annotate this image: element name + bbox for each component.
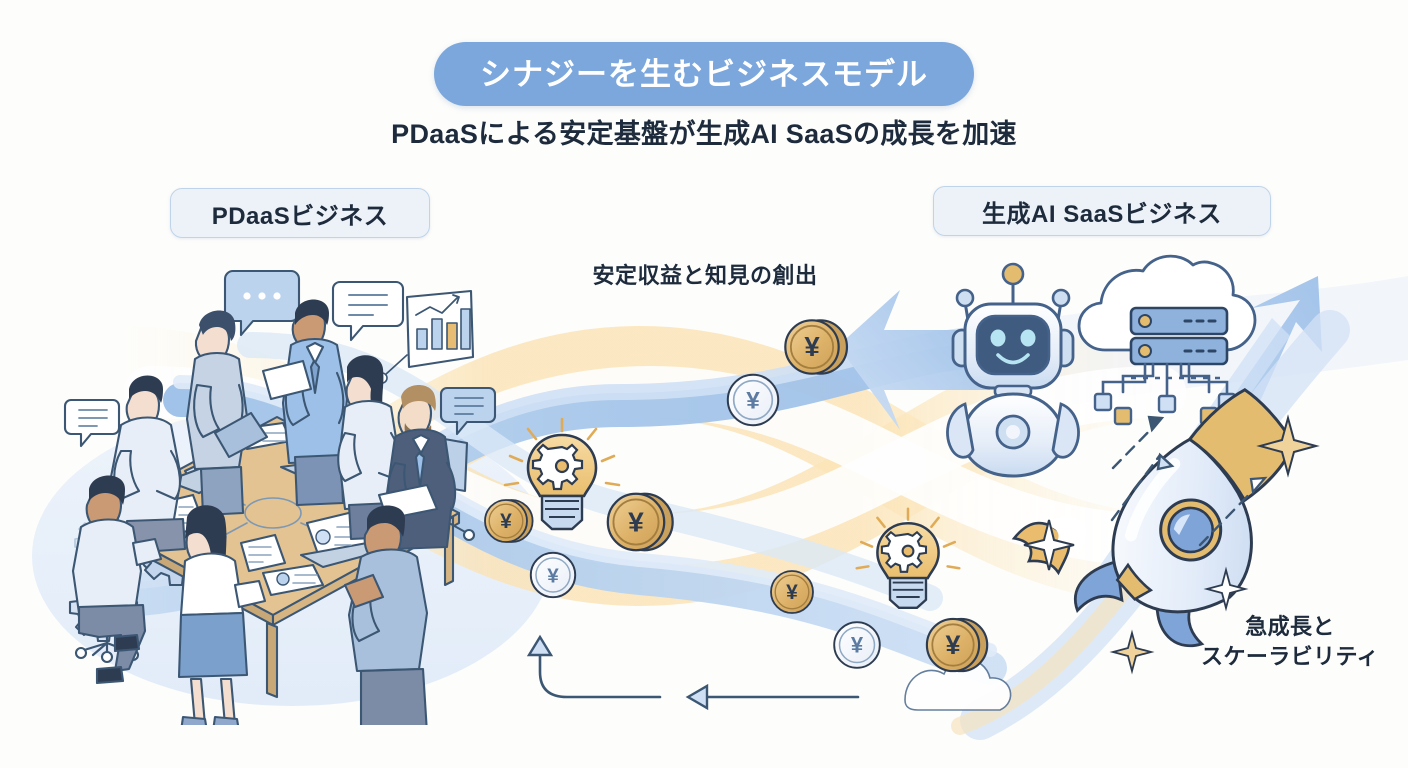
big-right-arrow-icon [838, 290, 990, 430]
svg-text:¥: ¥ [547, 564, 559, 587]
yen-coin-icon: ¥ [785, 320, 847, 373]
svg-text:¥: ¥ [628, 505, 644, 537]
yen-coin-icon: ¥ [771, 571, 813, 613]
svg-text:¥: ¥ [804, 331, 820, 362]
yen-coin-icon: ¥ [927, 619, 987, 671]
svg-text:¥: ¥ [786, 581, 798, 604]
yen-coin-icon: ¥ [834, 622, 880, 668]
business-meeting-scene [55, 255, 525, 725]
section-badge-pdaas-label: PDaaSビジネス [212, 196, 389, 231]
page-title-pill: シナジーを生むビジネスモデル [434, 42, 974, 106]
page-title: シナジーを生むビジネスモデル [480, 59, 928, 90]
big-growth-arrow-icon [1090, 276, 1322, 600]
speech-bubble-icon [225, 271, 299, 335]
section-badge-saas: 生成AI SaaSビジネス [933, 186, 1271, 236]
section-badge-pdaas: PDaaSビジネス [170, 188, 430, 238]
yen-coin-icon: ¥ [608, 494, 673, 550]
flow-label: 安定収益と知見の創出 [560, 258, 850, 290]
growth-label: 急成長と スケーラビリティ [1180, 612, 1400, 671]
yen-coin-icon: ¥ [531, 553, 575, 597]
speech-bubble-icon [65, 400, 119, 446]
growth-label-line2: スケーラビリティ [1180, 642, 1400, 672]
sparkle-icon [1207, 570, 1245, 608]
growth-arrow-icon [1112, 417, 1265, 545]
sparkle-icon [1113, 633, 1151, 671]
svg-text:¥: ¥ [851, 633, 864, 658]
yen-coin-icon: ¥ [728, 375, 778, 425]
growth-label-line1: 急成長と [1180, 612, 1400, 642]
infographic-canvas: ¥ ¥ ¥ ¥ ¥ ¥ [0, 0, 1408, 768]
cloud-server-icon [1079, 256, 1255, 424]
speech-bubble-icon [333, 282, 403, 340]
lightbulb-gear-icon [857, 509, 960, 608]
svg-text:¥: ¥ [746, 387, 760, 414]
sparkle-icon [1024, 520, 1074, 570]
speech-bubble-icon [441, 388, 495, 434]
feedback-loop-arrow [529, 637, 858, 708]
page-subtitle: PDaaSによる安定基盤が生成AI SaaSの成長を加速 [0, 112, 1408, 151]
svg-text:¥: ¥ [945, 630, 960, 660]
robot-icon [947, 264, 1078, 476]
section-badge-saas-label: 生成AI SaaSビジネス [982, 194, 1222, 229]
sparkle-icon [1260, 418, 1316, 474]
